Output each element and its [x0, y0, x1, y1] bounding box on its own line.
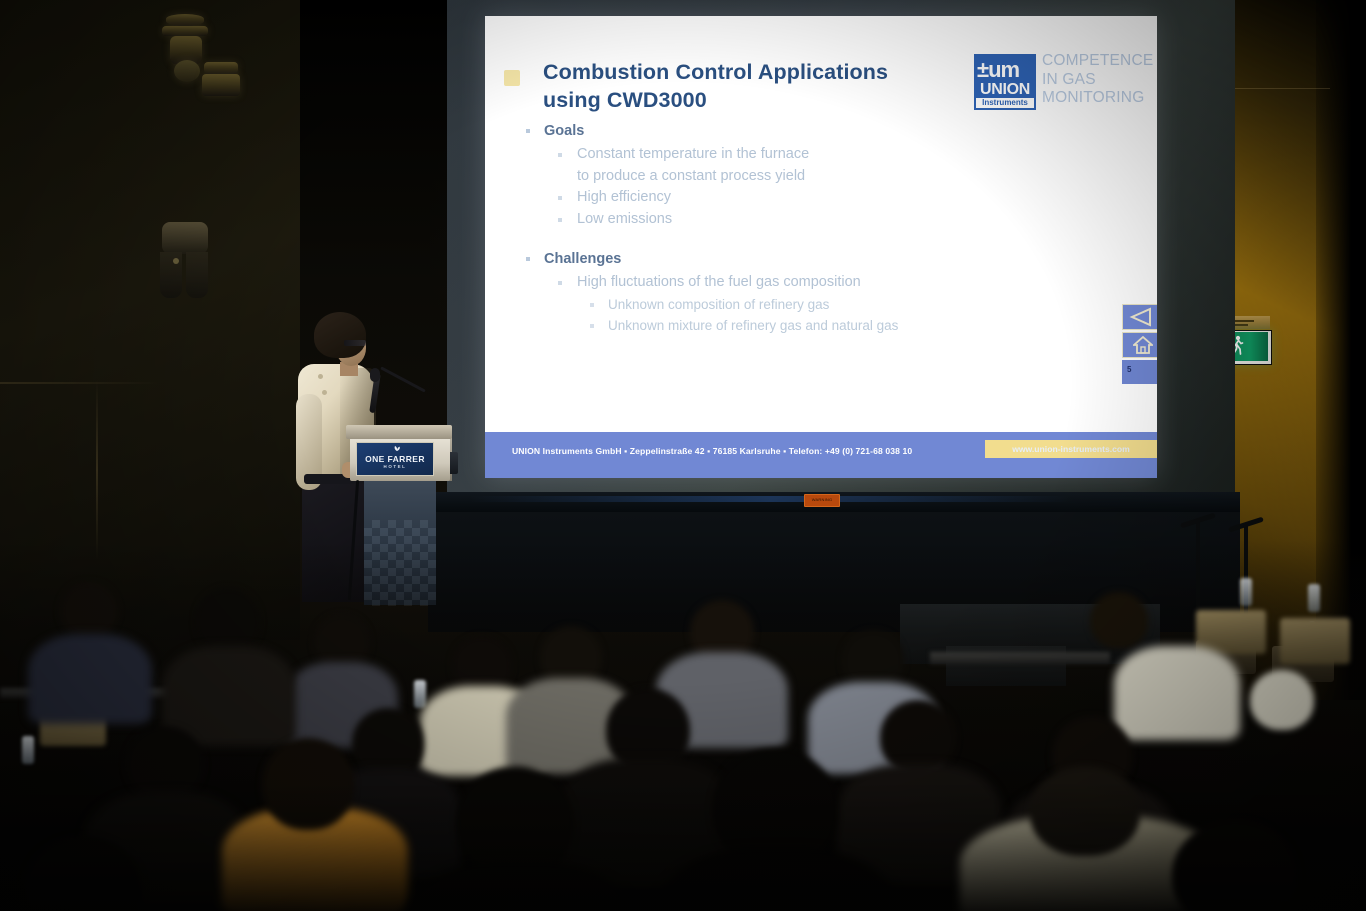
title-bullet-icon [504, 70, 520, 86]
challenges-label: Challenges [544, 251, 621, 267]
shirt-button-1 [318, 374, 323, 379]
audience-bottle-2 [1308, 584, 1320, 612]
goals-item-2: High efficiency [504, 187, 1140, 209]
goals-item-3: Low emissions [504, 209, 1140, 231]
footer-street: Zeppelinstraße 42 [630, 446, 705, 456]
projected-slide: Combustion Control Applications using CW… [485, 16, 1157, 478]
footer-contact-text: UNION Instruments GmbH ▪ Zeppelinstraße … [512, 446, 912, 456]
podium-sign: ONE FARRER HOTEL [356, 442, 434, 476]
footer-sep-1: ▪ [624, 446, 627, 456]
footer-company: UNION Instruments GmbH [512, 446, 622, 456]
section-heading-goals: Goals [504, 120, 1140, 142]
audience-body [28, 634, 152, 724]
logo-box: ±um UNION Instruments [974, 54, 1036, 110]
audience-bottle-5 [22, 736, 34, 764]
conference-room-photo: Combustion Control Applications using CW… [0, 0, 1366, 911]
challenges-item-1: High fluctuations of the fuel gas compos… [504, 272, 1140, 294]
footer-sep-3: ▪ [783, 446, 786, 456]
ceiling-light-rig [152, 0, 244, 106]
wall-speaker-unit [152, 222, 218, 318]
logo-tagline: COMPETENCE IN GAS MONITORING [1042, 52, 1157, 108]
audience-head [1090, 592, 1148, 648]
union-instruments-logo: ±um UNION Instruments COMPETENCE IN GAS … [974, 52, 1157, 114]
warning-label-text: WARNING [805, 495, 839, 504]
footer-url-chip[interactable]: www.union-instruments.com [985, 440, 1157, 458]
audience [0, 540, 1366, 911]
home-icon [1133, 336, 1153, 354]
footer-phone: Telefon: +49 (0) 721-68 038 10 [789, 446, 912, 456]
section-gap [504, 230, 1140, 248]
audience-bottle-4 [414, 680, 426, 708]
warning-label: WARNING [804, 494, 840, 507]
challenges-subitem-1: Unknown composition of refinery gas [504, 294, 1140, 316]
audience-table-1 [930, 652, 1110, 664]
shirt-button-2 [322, 390, 327, 395]
audience-head [880, 700, 956, 774]
footer-sep-2: ▪ [707, 446, 710, 456]
foreground-darkening [0, 781, 1366, 911]
podium-brand-sub: HOTEL [357, 464, 433, 469]
slide-title-line2: using CWD3000 [543, 86, 983, 114]
audience-bottle-1 [1240, 578, 1252, 606]
audience-head [842, 630, 904, 690]
goals-item-1: Constant temperature in the furnace [504, 144, 1140, 166]
wall-seam-horizontal [0, 382, 160, 384]
wall-seam-vertical [96, 380, 98, 560]
microphone-head [370, 368, 380, 382]
page-number: 5 [1127, 365, 1131, 374]
slide-title-line1: Combustion Control Applications [543, 58, 983, 86]
tagline-line2: IN GAS [1042, 71, 1157, 90]
goals-label: Goals [544, 123, 584, 139]
logo-brand: UNION [976, 81, 1034, 98]
tagline-line1: COMPETENCE [1042, 52, 1157, 71]
screen-bottom-sheen [470, 496, 1070, 502]
back-triangle-icon [1123, 305, 1157, 329]
podium-brand: ONE FARRER [357, 454, 433, 464]
audience-head [1250, 670, 1314, 730]
slide-footer-bar: UNION Instruments GmbH ▪ Zeppelinstraße … [485, 432, 1157, 478]
logo-subbrand: Instruments [976, 98, 1034, 108]
audience-chair-3 [1280, 618, 1350, 664]
section-heading-challenges: Challenges [504, 248, 1140, 270]
nav-back-button[interactable] [1122, 304, 1157, 330]
slide-body: Goals Constant temperature in the furnac… [504, 120, 1140, 337]
footer-city: 76185 Karlsruhe [713, 446, 781, 456]
audience-head [60, 582, 118, 638]
slide-nav-group: 5 [1122, 304, 1157, 386]
tagline-line3: MONITORING [1042, 89, 1157, 108]
goals-item-1-continuation: to produce a constant process yield [504, 166, 1140, 188]
nav-home-button[interactable] [1122, 332, 1157, 358]
audience-head [196, 588, 260, 654]
presenter-hair [314, 312, 366, 358]
nav-page-number-button[interactable]: 5 [1122, 360, 1157, 384]
slide-title: Combustion Control Applications using CW… [543, 58, 983, 114]
presenter-glasses [344, 340, 366, 346]
audience-body [1114, 646, 1240, 740]
footer-url-text: www.union-instruments.com [985, 440, 1157, 458]
podium-top [346, 425, 452, 439]
logo-symbol: ±um [977, 57, 1033, 83]
challenges-subitem-2: Unknown mixture of refinery gas and natu… [504, 315, 1140, 337]
